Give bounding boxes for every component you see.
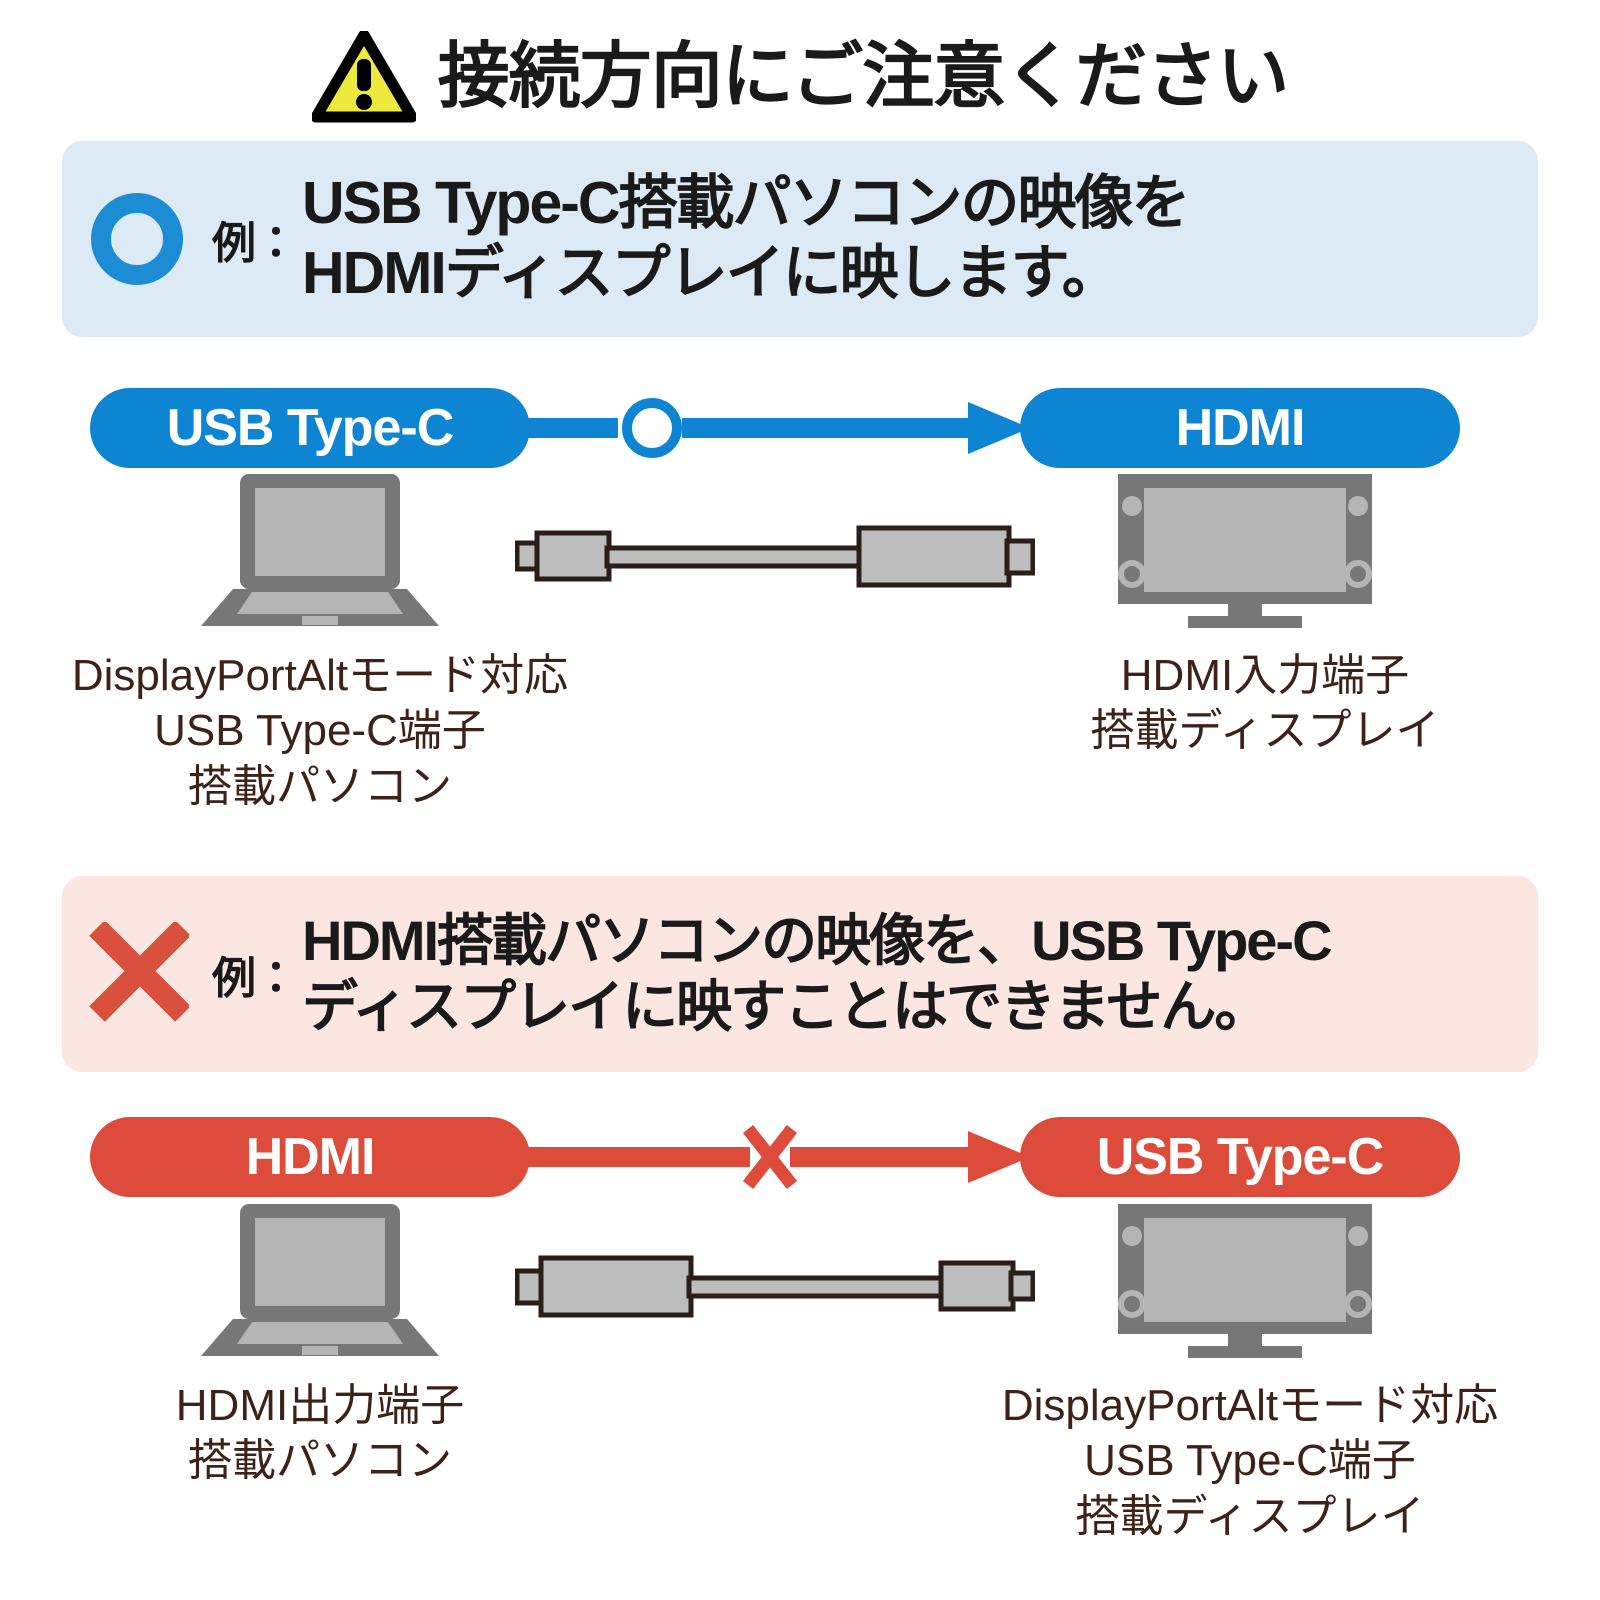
ok-hardware-row — [0, 470, 1600, 640]
monitor-icon — [1110, 1200, 1380, 1360]
caption-line: USB Type-C端子 — [30, 703, 610, 758]
ng-mark-slot — [62, 922, 212, 1026]
ok-callout-text: USB Type-C搭載パソコンの映像を HDMIディスプレイに映します。 — [302, 169, 1538, 308]
ng-connection-bar: HDMI USB Type-C — [90, 1117, 1460, 1197]
ng-right-device-caption: DisplayPortAltモード対応 USB Type-C端子 搭載ディスプレ… — [960, 1378, 1540, 1544]
caption-line: USB Type-C端子 — [960, 1433, 1540, 1488]
ok-target-pill: HDMI — [1020, 388, 1460, 468]
ok-callout-line-1: USB Type-C搭載パソコンの映像を — [302, 169, 1538, 239]
ng-source-pill: HDMI — [90, 1117, 530, 1197]
laptop-icon — [195, 1200, 445, 1360]
laptop-icon — [195, 470, 445, 630]
caption-line: 搭載ディスプレイ — [960, 1489, 1540, 1544]
ok-callout-line-2: HDMIディスプレイに映します。 — [302, 239, 1538, 309]
page-title: 接続方向にご注意ください — [438, 41, 1289, 113]
ok-connection-bar: USB Type-C HDMI — [90, 388, 1460, 468]
ok-callout-box: 例： USB Type-C搭載パソコンの映像を HDMIディスプレイに映します。 — [62, 141, 1538, 337]
warning-triangle-icon — [312, 31, 416, 123]
ng-hardware-row — [0, 1200, 1600, 1370]
caption-line: DisplayPortAltモード対応 — [960, 1378, 1540, 1433]
ng-callout-box: 例： HDMI搭載パソコンの映像を、USB Type-C ディスプレイに映すこと… — [62, 876, 1538, 1072]
caption-line: 搭載ディスプレイ — [1000, 703, 1530, 758]
circle-mark-icon — [91, 193, 183, 285]
ok-rei-label: 例： — [212, 207, 296, 271]
ng-arrow-with-cross-icon — [490, 1125, 1070, 1189]
ok-left-device-caption: DisplayPortAltモード対応 USB Type-C端子 搭載パソコン — [30, 648, 610, 814]
ng-rei-label: 例： — [212, 942, 296, 1006]
ok-source-pill: USB Type-C — [90, 388, 530, 468]
hdmi-to-usbc-cable-icon — [515, 1245, 1035, 1325]
usbc-to-hdmi-cable-icon — [515, 515, 1035, 595]
caption-line: HDMI出力端子 — [60, 1378, 580, 1433]
caption-line: DisplayPortAltモード対応 — [30, 648, 610, 703]
ng-callout-text: HDMI搭載パソコンの映像を、USB Type-C ディスプレイに映すことはでき… — [302, 908, 1538, 1040]
cross-mark-icon — [85, 922, 189, 1026]
ng-callout-line-2: ディスプレイに映すことはできません。 — [302, 974, 1538, 1040]
ok-arrow-with-circle-icon — [490, 396, 1070, 460]
caption-line: 搭載パソコン — [60, 1433, 580, 1488]
caption-line: HDMI入力端子 — [1000, 648, 1530, 703]
monitor-icon — [1110, 470, 1380, 630]
caption-line: 搭載パソコン — [30, 759, 610, 814]
ok-right-device-caption: HDMI入力端子 搭載ディスプレイ — [1000, 648, 1530, 759]
ok-mark-slot — [62, 193, 212, 285]
ng-callout-line-1: HDMI搭載パソコンの映像を、USB Type-C — [302, 908, 1538, 974]
ng-left-device-caption: HDMI出力端子 搭載パソコン — [60, 1378, 580, 1489]
ng-target-pill: USB Type-C — [1020, 1117, 1460, 1197]
page-title-row: 接続方向にご注意ください — [0, 22, 1600, 132]
